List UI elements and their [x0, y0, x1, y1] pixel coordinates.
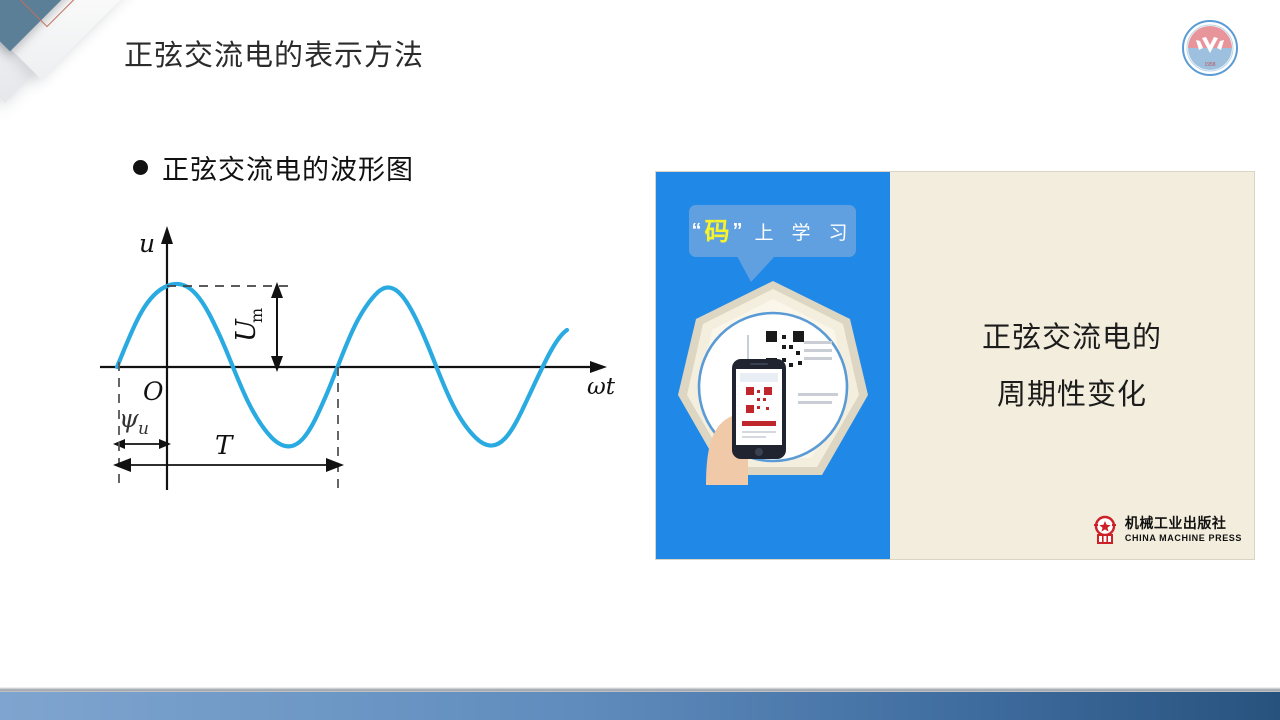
period-arrow-left: [113, 458, 131, 472]
qr-illustration: [662, 275, 884, 505]
publisher-mark-icon: [1091, 515, 1119, 545]
y-axis-label: u: [139, 229, 155, 258]
description-line-2: 周期性变化: [997, 366, 1147, 423]
sine-curve: [117, 284, 567, 446]
origin-label: O: [143, 377, 164, 406]
page-title: 正弦交流电的表示方法: [124, 32, 424, 74]
publisher-logo: 机械工业出版社 CHINA MACHINE PRESS: [1091, 515, 1242, 545]
phone-home-button: [755, 448, 763, 456]
sine-waveform-svg: U m u ωt O ψ u: [95, 222, 625, 502]
x-axis-label: ωt: [587, 374, 616, 400]
quote-open: “: [691, 221, 701, 241]
period-arrow-right: [326, 458, 344, 472]
slide-canvas: 正弦交流电的表示方法 1958 正弦交流电的波形图: [0, 0, 1280, 720]
screen-button: [742, 421, 776, 426]
amplitude-arrow-down: [271, 356, 283, 372]
phase-arrow-right: [159, 439, 171, 449]
screen-line: [742, 436, 766, 438]
x-axis-arrowhead: [590, 361, 607, 373]
publisher-name-cn: 机械工业出版社: [1125, 517, 1242, 531]
bubble-rest-text: 上 学 习: [754, 218, 853, 245]
school-logo-year: 1958: [1204, 62, 1215, 68]
section-heading-label: 正弦交流电的波形图: [162, 148, 414, 187]
amplitude-label-sub: m: [247, 308, 266, 323]
speech-bubble: “ 码 ” 上 学 习: [689, 205, 856, 257]
period-label: T: [215, 431, 234, 461]
amplitude-arrow-up: [271, 282, 283, 298]
y-axis-arrowhead: [161, 226, 173, 244]
footer-bar: [0, 692, 1280, 720]
phone-qr-code: [746, 387, 772, 413]
qr-illustration-svg: [662, 275, 884, 505]
publisher-text: 机械工业出版社 CHINA MACHINE PRESS: [1125, 517, 1242, 543]
bullet-dot-icon: [133, 160, 148, 175]
sine-waveform-diagram: U m u ωt O ψ u: [95, 222, 625, 502]
section-heading: 正弦交流电的波形图: [133, 148, 414, 187]
phase-label: ψ u: [119, 404, 149, 439]
publisher-name-en: CHINA MACHINE PRESS: [1125, 534, 1242, 543]
media-card: “ 码 ” 上 学 习: [655, 171, 1255, 560]
description-pane: 正弦交流电的 周期性变化 机械工业出版社 CHINA MACHINE PRESS: [890, 172, 1254, 559]
quote-close: ”: [732, 221, 742, 241]
school-logo: 1958: [1182, 20, 1238, 76]
description-line-1: 正弦交流电的: [982, 309, 1162, 366]
phase-label-sub: u: [138, 419, 149, 439]
amplitude-label: U m: [231, 308, 266, 342]
bubble-keyword: 码: [704, 219, 729, 244]
qr-learning-pane: “ 码 ” 上 学 习: [656, 172, 890, 559]
phone-speaker: [750, 363, 768, 365]
school-emblem-icon: 1958: [1182, 20, 1238, 76]
screen-line: [742, 431, 776, 433]
screen-header: [740, 373, 778, 382]
doc-line: [798, 401, 832, 404]
doc-line: [798, 393, 838, 396]
phase-label-main: ψ: [119, 404, 139, 433]
